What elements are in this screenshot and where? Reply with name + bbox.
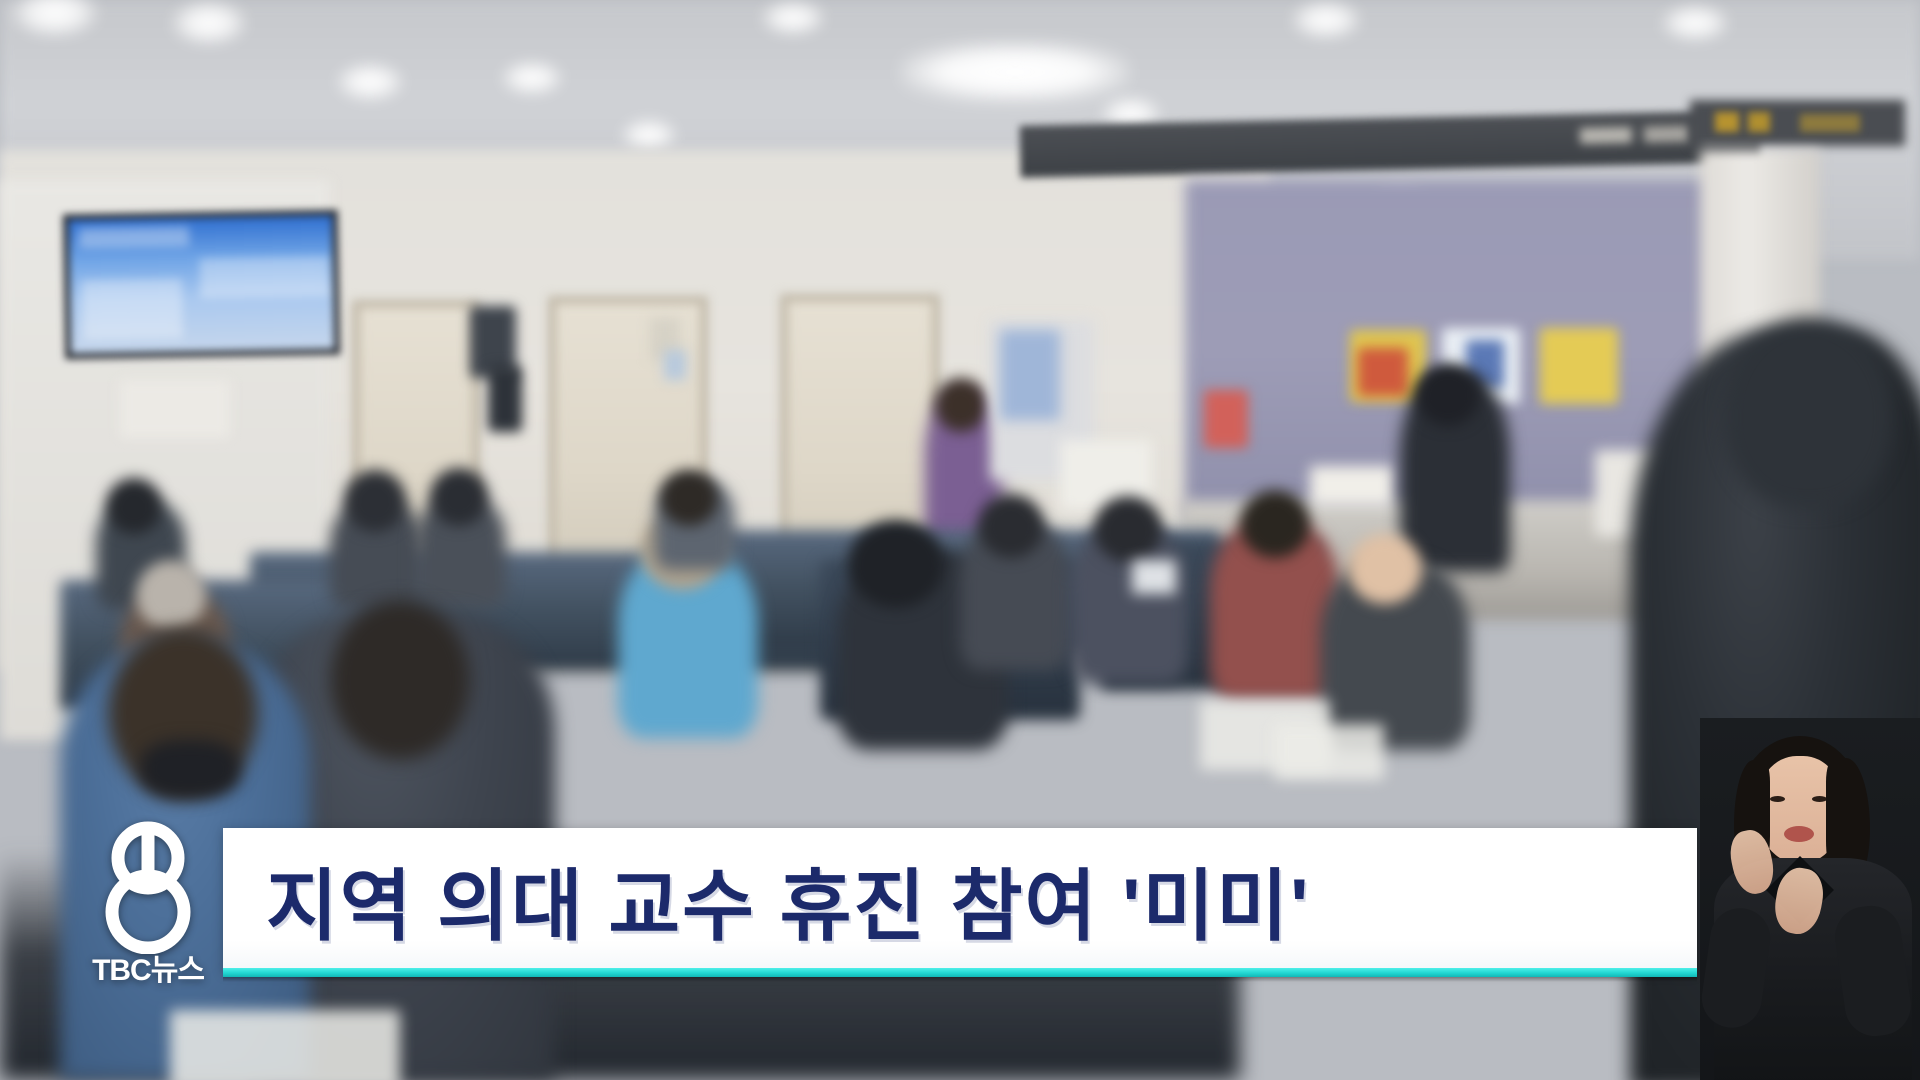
ceiling-downlight xyxy=(500,60,564,96)
reception-desk xyxy=(1180,500,1800,620)
waiting-room-chair-row xyxy=(60,580,360,710)
person-head xyxy=(1416,364,1480,426)
ceiling-downlight xyxy=(620,118,678,152)
interpreter-backdrop xyxy=(1700,718,1920,1080)
wall-poster xyxy=(1442,328,1520,404)
person-seated xyxy=(330,500,424,610)
person-seated xyxy=(96,500,186,610)
paper-document xyxy=(170,1010,400,1080)
reception-monitor xyxy=(1595,450,1685,536)
person-head xyxy=(935,378,987,432)
paper-document xyxy=(1200,700,1330,770)
news-headline: 지역 의대 교수 휴진 참여 '미미' xyxy=(266,838,1626,962)
ceiling-downlight xyxy=(170,0,248,46)
reception-purple-wall xyxy=(1185,180,1785,520)
person-head xyxy=(640,512,724,590)
ceiling-downlight xyxy=(10,0,100,38)
wall-poster xyxy=(1540,328,1618,404)
signage-text-blur xyxy=(1748,112,1770,132)
waiting-room-chair xyxy=(820,560,1080,720)
logo-eight-icon xyxy=(92,818,204,954)
person-head xyxy=(978,494,1044,558)
interpreter-hair xyxy=(1736,736,1864,886)
wall-poster xyxy=(1204,390,1248,448)
signage-text-blur xyxy=(1644,126,1690,143)
interpreter-arm xyxy=(1831,902,1914,1040)
banner-accent-shadow xyxy=(223,977,1697,982)
wall-mounted-display xyxy=(63,210,340,360)
signage-text-blur xyxy=(1580,127,1632,144)
person-head xyxy=(660,470,718,526)
person-seated xyxy=(960,520,1070,670)
signage-text-blur xyxy=(1800,114,1860,132)
paper-document xyxy=(1274,724,1384,780)
foreground-person-head xyxy=(108,628,258,798)
sign-language-interpreter xyxy=(1700,718,1920,1080)
door xyxy=(788,302,932,604)
waiting-room-chair-row xyxy=(250,552,890,672)
person-head xyxy=(1094,496,1162,562)
interpreter-eye xyxy=(1812,796,1827,802)
ceiling-downlight xyxy=(1100,96,1162,132)
display-panel xyxy=(79,226,189,248)
person-seated xyxy=(120,590,230,720)
wall-notice xyxy=(120,380,230,438)
person-seated xyxy=(1210,520,1340,700)
interpreter-hair-strand xyxy=(1826,758,1870,888)
back-wall xyxy=(0,150,1270,670)
information-board xyxy=(990,320,1094,480)
waiting-room-chair xyxy=(1100,540,1320,690)
interpreter-hand xyxy=(1771,865,1828,938)
person-seated xyxy=(838,550,1008,750)
person-standing xyxy=(925,392,1003,552)
interpreter-arm xyxy=(1700,904,1774,1031)
wall-sign xyxy=(650,318,680,360)
ceiling-downlight xyxy=(760,0,826,36)
wall-poster xyxy=(1358,348,1408,396)
left-wall xyxy=(0,180,330,740)
ceiling-strip-light xyxy=(900,42,1130,102)
news-broadcast-frame: 지역 의대 교수 휴진 참여 '미미' TBC뉴스 xyxy=(0,0,1920,1080)
display-panel xyxy=(82,278,183,340)
person-head xyxy=(106,478,162,534)
interpreter-mouth xyxy=(1784,826,1814,842)
door xyxy=(556,304,700,602)
ceiling xyxy=(0,0,1920,260)
structural-pillar xyxy=(1700,150,1820,570)
face-mask xyxy=(1132,560,1176,594)
tbc-news-logo-text: TBC뉴스 xyxy=(92,956,204,986)
interpreter-hand xyxy=(1726,827,1778,898)
wall-sign xyxy=(664,350,686,380)
interpreter-face xyxy=(1756,756,1844,864)
ceiling-hung-signage xyxy=(1020,110,1761,177)
person-head xyxy=(1348,534,1422,604)
corner-signage xyxy=(1690,100,1905,146)
door xyxy=(360,308,472,598)
person-seated xyxy=(618,548,758,738)
interpreter-torso xyxy=(1714,858,1912,1080)
door-frame xyxy=(780,294,940,606)
information-board-graphic xyxy=(1000,330,1060,420)
ceiling-downlight xyxy=(1660,4,1730,42)
foreground-silhouette-head xyxy=(1724,318,1892,508)
banner-accent-line xyxy=(223,968,1697,977)
wall-poster xyxy=(1350,330,1426,402)
signage-text-blur xyxy=(1715,112,1739,132)
interpreter-collar xyxy=(1766,856,1834,924)
person-seated xyxy=(655,480,735,570)
ceiling-downlight xyxy=(640,290,698,322)
tbc-news-logo: TBC뉴스 xyxy=(82,818,214,1000)
person-seated xyxy=(1320,560,1470,750)
wall-speaker xyxy=(470,306,516,378)
person-head xyxy=(344,470,406,532)
display-panel xyxy=(200,256,331,298)
wall-poster xyxy=(1466,340,1504,388)
person-seated xyxy=(416,496,506,608)
ceiling-downlight xyxy=(335,62,405,102)
interpreter-eye xyxy=(1770,796,1785,802)
interpreter-hair-strand xyxy=(1734,760,1770,880)
foreground-person-head xyxy=(330,600,470,760)
door-frame xyxy=(352,300,480,600)
door-frame xyxy=(548,296,708,604)
ceiling-downlight xyxy=(1370,186,1430,220)
signage-text-blur xyxy=(1702,124,1760,141)
person-head xyxy=(136,560,206,630)
reception-paper xyxy=(1310,466,1394,506)
person-head xyxy=(430,468,488,526)
person-head xyxy=(848,520,944,608)
person-seated xyxy=(1070,524,1188,684)
information-board-paper xyxy=(1060,440,1152,510)
person-head xyxy=(1240,490,1310,558)
ceiling-downlight xyxy=(1290,0,1362,40)
person-standing xyxy=(1400,372,1510,572)
wall-sensor xyxy=(488,366,522,432)
waiting-room-chair-row xyxy=(660,530,1220,650)
face-mask xyxy=(140,740,240,798)
